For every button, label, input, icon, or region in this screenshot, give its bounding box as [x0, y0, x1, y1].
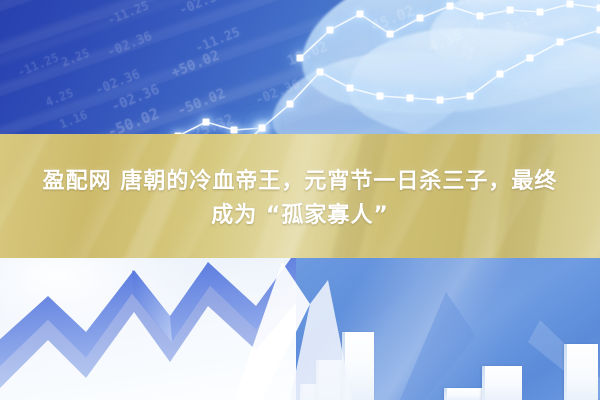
chart-node — [259, 125, 266, 132]
chart-node — [357, 11, 364, 18]
chart-node — [203, 119, 210, 126]
chart-line — [262, 30, 600, 128]
chart-node — [447, 3, 454, 10]
chart-node — [507, 7, 514, 14]
chart-node — [497, 71, 504, 78]
chart-node — [537, 9, 544, 16]
lower-scene — [0, 258, 600, 400]
chart-node — [417, 15, 424, 22]
chart-node — [477, 13, 484, 20]
chart-node — [467, 93, 474, 100]
chart-node — [557, 39, 564, 46]
banner-image: -11.25-02.3621.0245.028.154.36-11.25-02.… — [0, 0, 600, 400]
chart-node — [347, 85, 354, 92]
bar-4 — [444, 388, 482, 400]
white-wedge — [232, 258, 402, 400]
chart-node — [597, 27, 600, 34]
bar-6 — [564, 344, 598, 400]
headline: 盈配网 唐朝的冷血帝王，元宵节一日杀三子，最终 成为 “孤家寡人” — [0, 134, 600, 258]
chart-node — [567, 1, 574, 8]
headline-line-1: 盈配网 唐朝的冷血帝王，元宵节一日杀三子，最终 — [43, 163, 558, 195]
chart-node — [377, 93, 384, 100]
chart-node — [231, 127, 238, 134]
chart-node — [297, 55, 304, 62]
chart-node — [387, 31, 394, 38]
chart-node — [317, 69, 324, 76]
chart-line — [300, 4, 600, 58]
chart-node — [597, 5, 600, 12]
chart-node — [527, 55, 534, 62]
chart-node — [327, 27, 334, 34]
chart-node — [287, 101, 294, 108]
chart-node — [437, 97, 444, 104]
bar-5 — [482, 366, 522, 400]
headline-line-2: 成为 “孤家寡人” — [211, 197, 389, 229]
chart-node — [407, 95, 414, 102]
